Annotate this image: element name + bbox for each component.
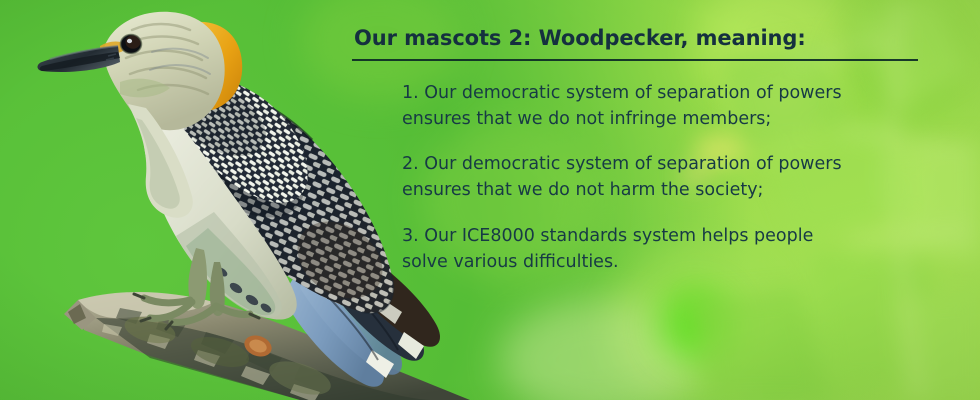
list-item-line: 2. Our democratic system of separation o… [402, 151, 922, 177]
title-divider [352, 59, 918, 61]
list-item-line: ensures that we do not infringe members; [402, 106, 922, 132]
mascot-banner: Our mascots 2: Woodpecker, meaning: 1. O… [0, 0, 980, 400]
list-item-line: solve various difficulties. [402, 249, 922, 275]
list-item: 1. Our democratic system of separation o… [352, 80, 922, 132]
page-title: Our mascots 2: Woodpecker, meaning: [352, 24, 922, 52]
list-item-line: 3. Our ICE8000 standards system helps pe… [402, 223, 922, 249]
list-item-line: 1. Our democratic system of separation o… [402, 80, 922, 106]
text-column: Our mascots 2: Woodpecker, meaning: 1. O… [352, 24, 922, 275]
list-item-line: ensures that we do not harm the society; [402, 177, 922, 203]
list-item: 2. Our democratic system of separation o… [352, 151, 922, 203]
list-item: 3. Our ICE8000 standards system helps pe… [352, 223, 922, 275]
